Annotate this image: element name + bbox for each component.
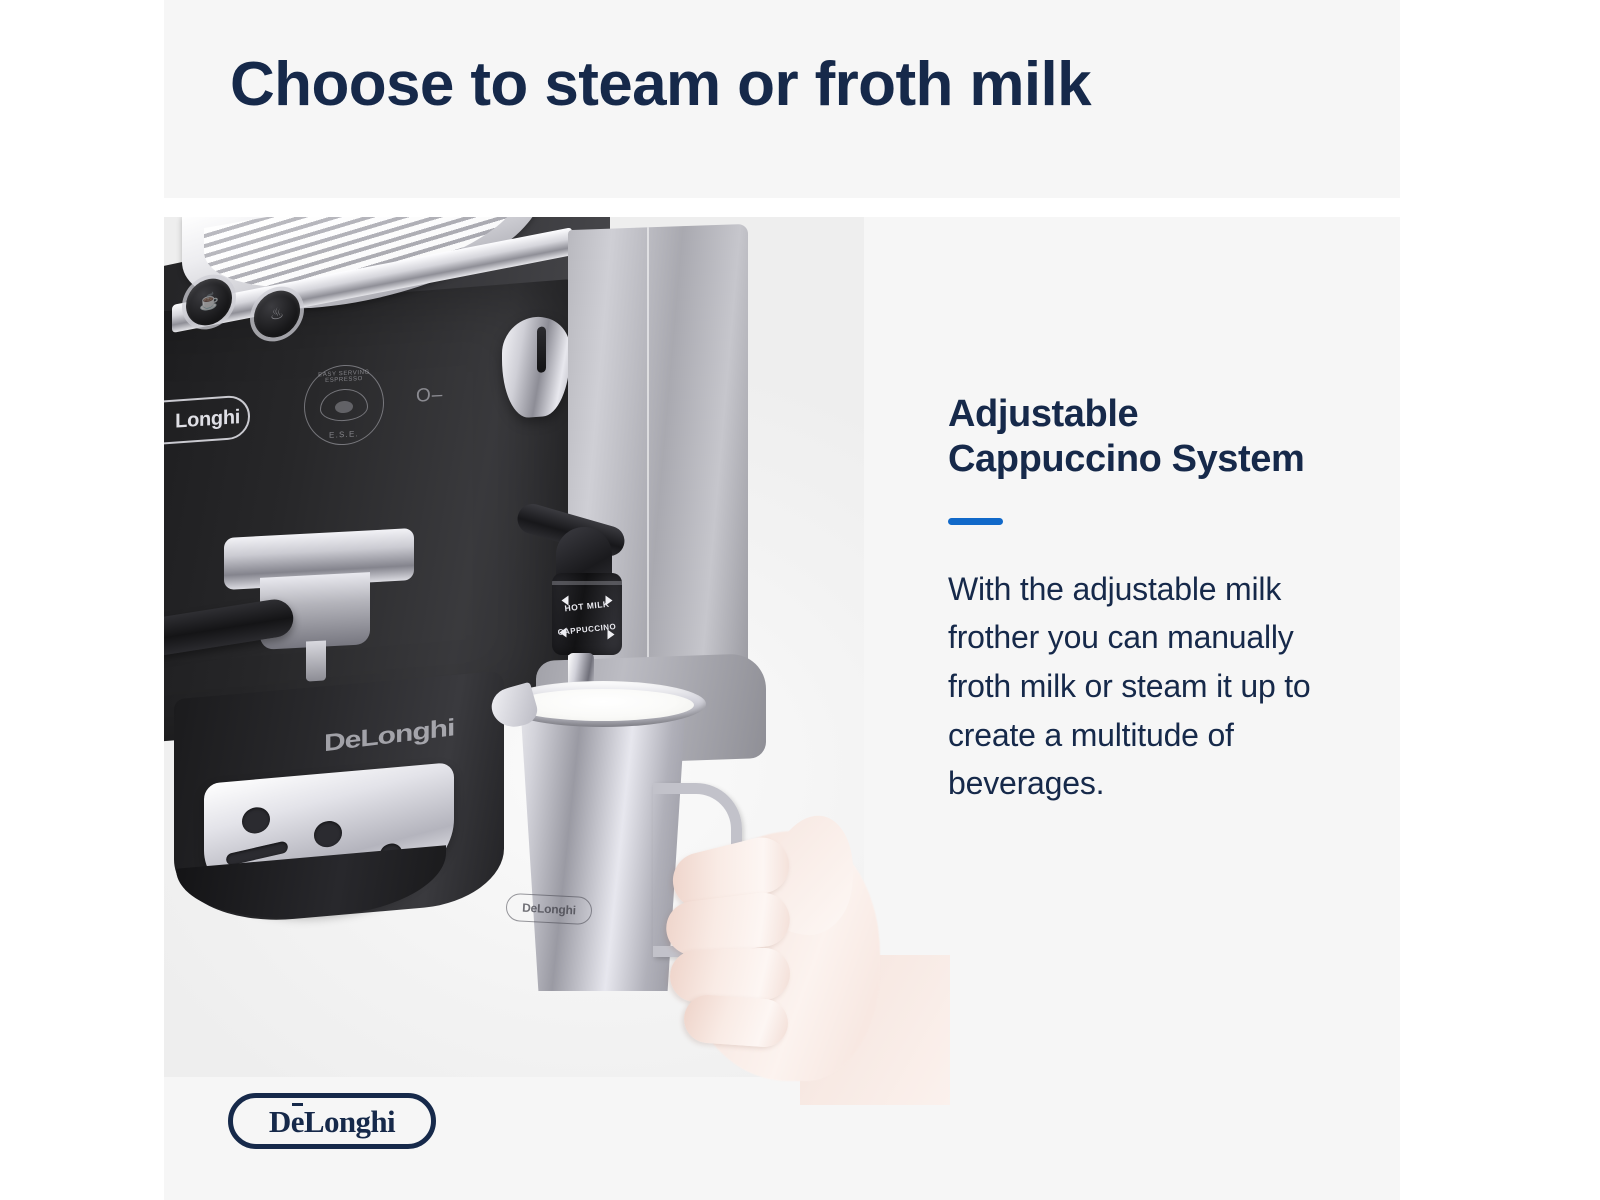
ese-badge: EASY SERVING ESPRESSO E.S.E. bbox=[304, 363, 384, 447]
feature-title: Adjustable Cappuccino System bbox=[948, 392, 1328, 482]
accent-rule bbox=[948, 518, 1003, 525]
machine-brand-label: Longhi bbox=[175, 406, 240, 434]
portafilter-spout bbox=[306, 640, 326, 681]
steam-button[interactable]: ♨ bbox=[254, 287, 300, 341]
tray-slot bbox=[242, 806, 270, 834]
logo-letters-longhi: Longhi bbox=[304, 1104, 395, 1139]
finger bbox=[669, 947, 791, 1003]
power-indicator-icon: O– bbox=[416, 384, 443, 407]
logo-letter-e-macron: e bbox=[291, 1106, 304, 1137]
tank-seam bbox=[647, 227, 649, 697]
page-title: Choose to steam or froth milk bbox=[230, 52, 1091, 119]
pitcher-brand-label: DeLonghi bbox=[522, 901, 576, 918]
knob-notch bbox=[537, 326, 546, 373]
hand bbox=[650, 805, 900, 1091]
espresso-button[interactable]: ☕ bbox=[186, 275, 232, 329]
content-band: ☕ ♨ EASY SERVING ESPRESSO E.S.E. O– Long… bbox=[164, 217, 1400, 1200]
product-feature-panel: Choose to steam or froth milk ☕ ♨ bbox=[164, 0, 1400, 1200]
frother-ring bbox=[552, 581, 622, 585]
logo-letter-d: D bbox=[269, 1104, 291, 1139]
pitcher-brand-badge: DeLonghi bbox=[505, 893, 592, 925]
tray-slot bbox=[314, 820, 342, 848]
feature-text-column: Adjustable Cappuccino System With the ad… bbox=[948, 392, 1328, 808]
steam-icon: ♨ bbox=[254, 287, 300, 341]
headline-band: Choose to steam or froth milk bbox=[164, 0, 1400, 198]
coffee-cup-icon: ☕ bbox=[186, 275, 232, 329]
milk-frother-dial[interactable]: HOT MILK CAPPUCCINO bbox=[552, 573, 622, 655]
product-photo: ☕ ♨ EASY SERVING ESPRESSO E.S.E. O– Long… bbox=[164, 217, 864, 1077]
delonghi-logo-text: DeLonghi bbox=[269, 1106, 395, 1137]
feature-body: With the adjustable milk frother you can… bbox=[948, 565, 1328, 808]
delonghi-logo: DeLonghi bbox=[228, 1093, 436, 1149]
milk-foam bbox=[512, 689, 694, 721]
finger bbox=[682, 993, 789, 1048]
band-divider bbox=[164, 198, 1400, 217]
